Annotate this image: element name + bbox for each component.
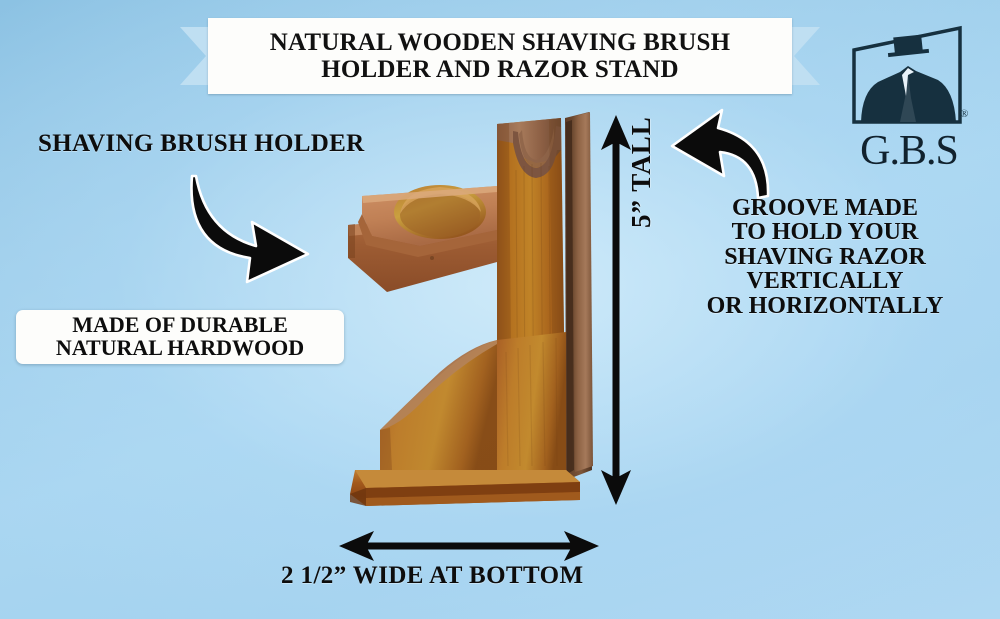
page-title: NATURAL WOODEN SHAVING BRUSH HOLDER AND … [270, 29, 731, 83]
callout-material-box: MADE OF DURABLE NATURAL HARDWOOD [16, 310, 344, 364]
brand-name: G.B.S [848, 130, 970, 172]
brand-logo: ® G.B.S [848, 22, 994, 174]
callout-shaving-brush-holder: SHAVING BRUSH HOLDER [38, 131, 364, 157]
dimension-width-label: 2 1/2” WIDE AT BOTTOM [281, 563, 583, 589]
registered-trademark-icon: ® [960, 108, 968, 120]
callout-material-text: MADE OF DURABLE NATURAL HARDWOOD [56, 314, 304, 360]
product-infographic: NATURAL WOODEN SHAVING BRUSH HOLDER AND … [0, 0, 1000, 619]
dimension-height-label: 5” TALL [628, 116, 656, 228]
callout-groove: GROOVE MADE TO HOLD YOUR SHAVING RAZOR V… [676, 196, 974, 318]
curved-arrow-right-icon [191, 176, 308, 282]
title-banner: NATURAL WOODEN SHAVING BRUSH HOLDER AND … [180, 18, 820, 94]
curved-arrow-left-icon [672, 110, 768, 198]
suit-silhouette-logo-icon [848, 22, 994, 132]
ribbon-panel: NATURAL WOODEN SHAVING BRUSH HOLDER AND … [208, 18, 792, 94]
double-arrow-horizontal-icon [339, 531, 599, 561]
